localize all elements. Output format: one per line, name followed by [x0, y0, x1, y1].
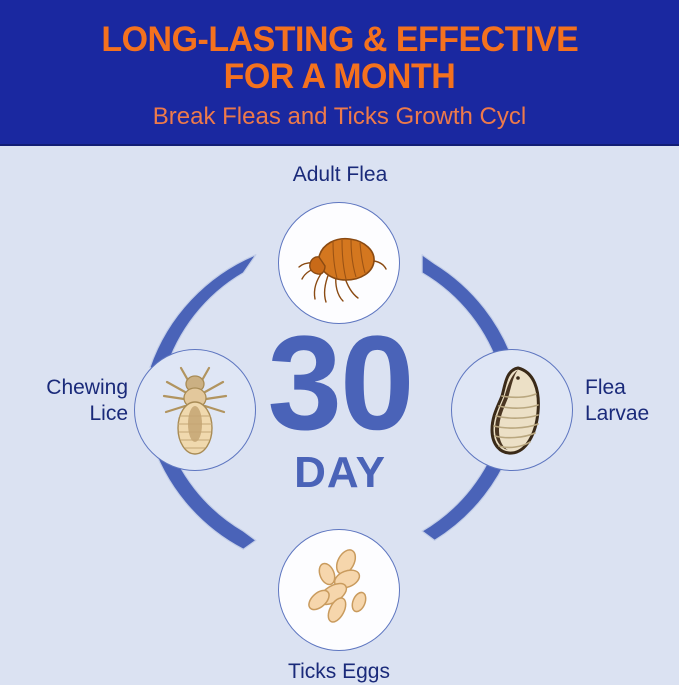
chewing-lice-icon [147, 360, 243, 460]
headline-line-1: LONG-LASTING & EFFECTIVE [101, 22, 578, 58]
node-circle-chewing-lice[interactable] [134, 349, 256, 471]
adult-flea-icon [289, 213, 389, 313]
node-label-adult-flea: Adult Flea [266, 162, 414, 188]
ticks-eggs-icon [289, 540, 389, 640]
lifecycle-diagram: 30 DAY Adult Flea [0, 146, 679, 679]
node-label-flea-larvae: Flea Larvae [585, 375, 679, 427]
node-label-ticks-eggs: Ticks Eggs [248, 659, 430, 685]
subheadline: Break Fleas and Ticks Growth Cycl [153, 102, 526, 132]
infographic-root: LONG-LASTING & EFFECTIVE FOR A MONTH Bre… [0, 0, 679, 679]
node-circle-adult-flea[interactable] [278, 202, 400, 324]
flea-larvae-icon [472, 360, 552, 460]
node-label-chewing-lice: Chewing Lice [22, 375, 128, 427]
node-circle-ticks-eggs[interactable] [278, 529, 400, 651]
node-circle-flea-larvae[interactable] [451, 349, 573, 471]
header-banner: LONG-LASTING & EFFECTIVE FOR A MONTH Bre… [0, 0, 679, 146]
headline-line-2: FOR A MONTH [224, 58, 456, 96]
